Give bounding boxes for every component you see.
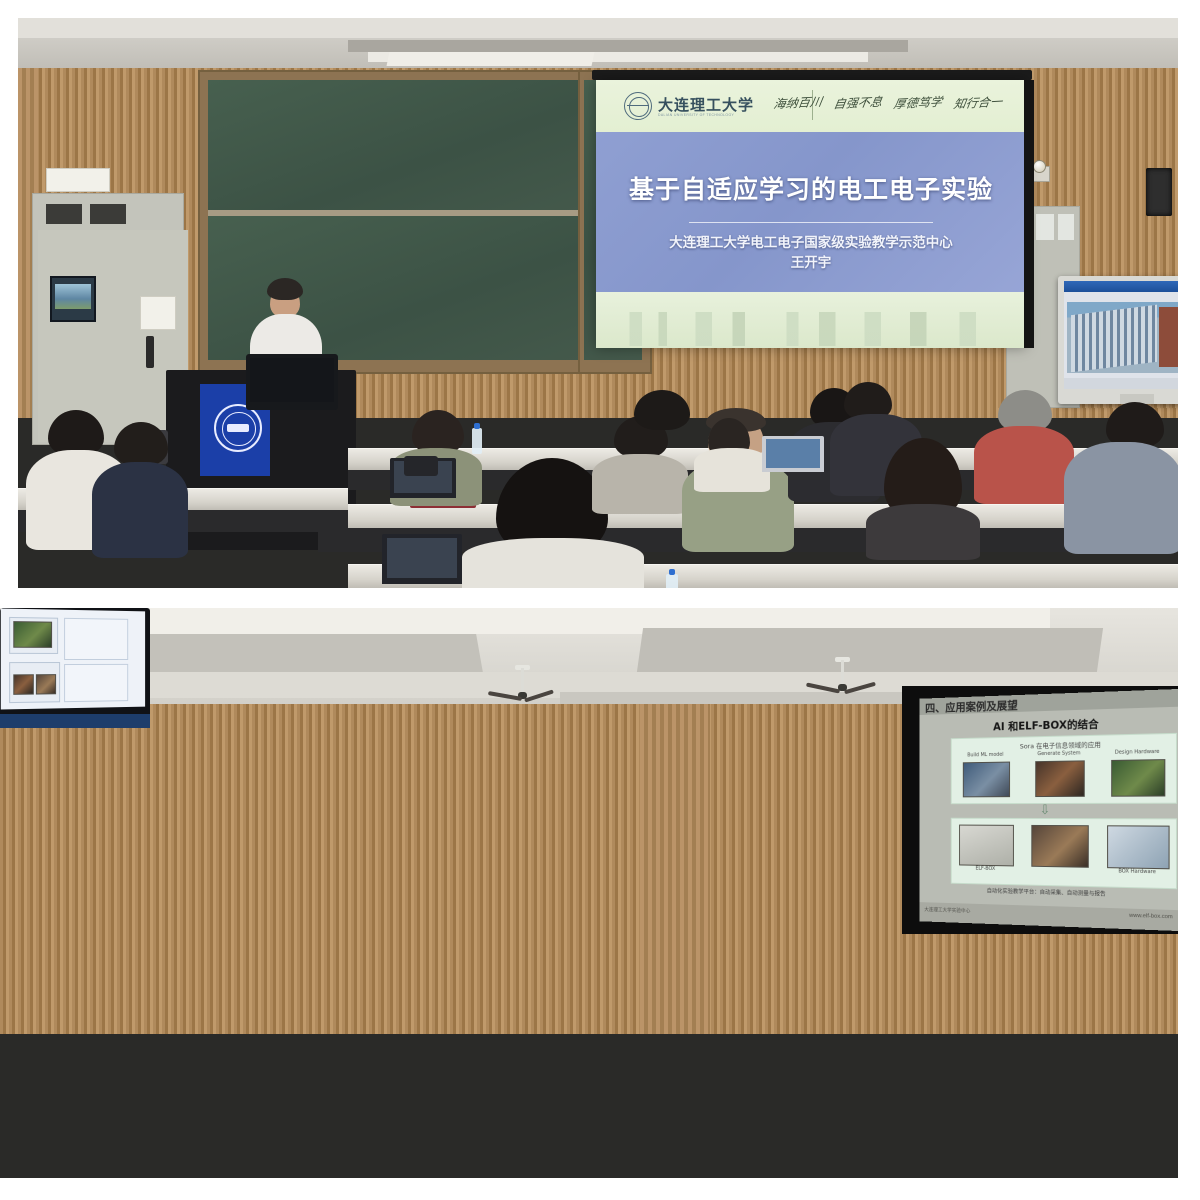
audience-body-b: [92, 462, 188, 558]
audience-body-e: [592, 454, 688, 514]
projection-screen-top: 大连理工大学 DALIAN UNIVERSITY OF TECHNOLOGY 海…: [596, 80, 1026, 348]
projection-screen-bottom: 四、应用案例及展望 AI 和ELF-BOX的结合 Sora 在电子信息领域的应用…: [920, 689, 1178, 931]
ceiling-recess: [348, 40, 908, 52]
photo-collage-page: 大连理工大学 DALIAN UNIVERSITY OF TECHNOLOGY 海…: [0, 0, 1200, 1200]
ceiling-band: [18, 18, 1178, 38]
door-handle: [146, 336, 154, 368]
podium-monitor: [246, 354, 338, 410]
university-logo-icon: [624, 92, 652, 120]
chalkboard-upper-left: [208, 80, 588, 210]
slide-rule: [689, 222, 933, 223]
university-name-en: DALIAN UNIVERSITY OF TECHNOLOGY: [658, 113, 734, 117]
window-titlebar: [1064, 281, 1178, 292]
aux-monitor-taskbar: [0, 714, 150, 728]
audience-body-m: [1064, 442, 1178, 554]
motto-part-1: 海纳百川: [772, 93, 823, 112]
ceiling-fan-right: [812, 660, 872, 704]
right-door-glass-3: [1058, 214, 1074, 240]
university-name: 大连理工大学: [658, 94, 754, 115]
screen-case: [592, 70, 1032, 80]
slide2-thumb-4: [959, 825, 1014, 867]
wall-notice: [46, 168, 110, 192]
side-monitor-screen: [1064, 281, 1178, 389]
podium-seal-icon: [214, 404, 262, 452]
motto-part-4: 知行合一: [952, 93, 1003, 112]
aux-monitor-screen: [1, 609, 145, 710]
laptop-2: [382, 534, 462, 584]
slide-subtitle-line1: 大连理工大学电工电子国家级实验教学示范中心: [596, 234, 1026, 254]
laptop-3: [762, 436, 824, 472]
slide2-row2-caption-1: ELF-BOX: [959, 865, 1012, 872]
university-motto: 海纳百川 自强不息 厚德笃学 知行合一: [774, 94, 1011, 111]
wall-speaker-right: [1146, 168, 1172, 216]
aux-slide-image-3: [36, 674, 56, 694]
slide2-row1-caption-1: Build ML model: [955, 752, 1015, 759]
motto-part-3: 厚德笃学: [892, 93, 943, 112]
slide-title: 基于自适应学习的电工电子实验: [596, 170, 1026, 206]
slide2-section-heading: 四、应用案例及展望: [925, 697, 1018, 716]
aux-slide-image-2: [13, 674, 34, 695]
audience-body-l: [974, 426, 1074, 504]
slide2-thumb-5: [1031, 825, 1088, 868]
building-photo: [1067, 302, 1178, 373]
slide2-thumb-6: [1107, 825, 1170, 869]
water-bottle-1: [472, 428, 482, 454]
slide2-thumb-3: [1111, 759, 1165, 797]
window-statusbar: [1064, 378, 1178, 389]
slide2-panel-top: Sora 在电子信息领域的应用 Build ML model Generate …: [951, 733, 1177, 804]
photo-bottom: 四、应用案例及展望 AI 和ELF-BOX的结合 Sora 在电子信息领域的应用…: [0, 608, 1178, 1178]
screen-side-rail: [1024, 80, 1034, 348]
audience-body-k: [866, 504, 980, 560]
slide2-footer-right: www.elf-box.com: [1129, 913, 1173, 921]
audience-body-h: [694, 448, 770, 492]
slide-body: 基于自适应学习的电工电子实验 大连理工大学电工电子国家级实验教学示范中心 王开宇: [596, 132, 1026, 292]
slide2-thumb-1: [963, 762, 1010, 798]
slide2-thumb-2: [1035, 760, 1085, 797]
slide-subtitle-line2: 王开宇: [596, 254, 1026, 274]
side-monitor: [1058, 276, 1178, 404]
slide2-footer-left: 大连理工大学实验中心: [924, 906, 970, 914]
motto-part-2: 自强不息: [832, 93, 883, 112]
audience-body-d: [462, 538, 644, 588]
slide-header: 大连理工大学 DALIAN UNIVERSITY OF TECHNOLOGY 海…: [596, 80, 1026, 133]
slide2-row1-caption-2: Generate System: [1027, 750, 1090, 757]
door-transom-right: [90, 204, 126, 224]
aux-slide-text-1: [64, 618, 128, 660]
aux-slide-image-1: [13, 621, 52, 648]
right-door-glass-2: [1036, 214, 1054, 240]
door-display: [50, 276, 96, 322]
slide-footer: [596, 292, 1026, 348]
podium-monitor-screen: [250, 358, 334, 402]
board-light: [387, 52, 595, 66]
window-toolbar: [1064, 292, 1178, 300]
aux-monitor: [0, 608, 150, 728]
water-bottle-2: [666, 574, 678, 588]
photo-top: 大连理工大学 DALIAN UNIVERSITY OF TECHNOLOGY 海…: [18, 18, 1178, 588]
slide2-panel-bottom: ELF-BOX BOX Hardware: [951, 818, 1177, 889]
slide2-row1-caption-3: Design Hardware: [1103, 749, 1172, 756]
door-transom-left: [46, 204, 82, 224]
presenter-hair: [267, 278, 303, 300]
door-sign: [140, 296, 176, 330]
slide2-row2-caption-2: BOX Hardware: [1107, 868, 1167, 875]
building-brick-wing: [1159, 307, 1178, 367]
slide2-down-arrow-icon: ⇩: [920, 802, 1178, 819]
skyline-graphic: [605, 312, 1018, 346]
bag-1: [404, 456, 438, 476]
aux-slide-text-2: [64, 664, 128, 702]
wood-wall-seam: [640, 704, 710, 1034]
building-facade: [1071, 305, 1157, 373]
